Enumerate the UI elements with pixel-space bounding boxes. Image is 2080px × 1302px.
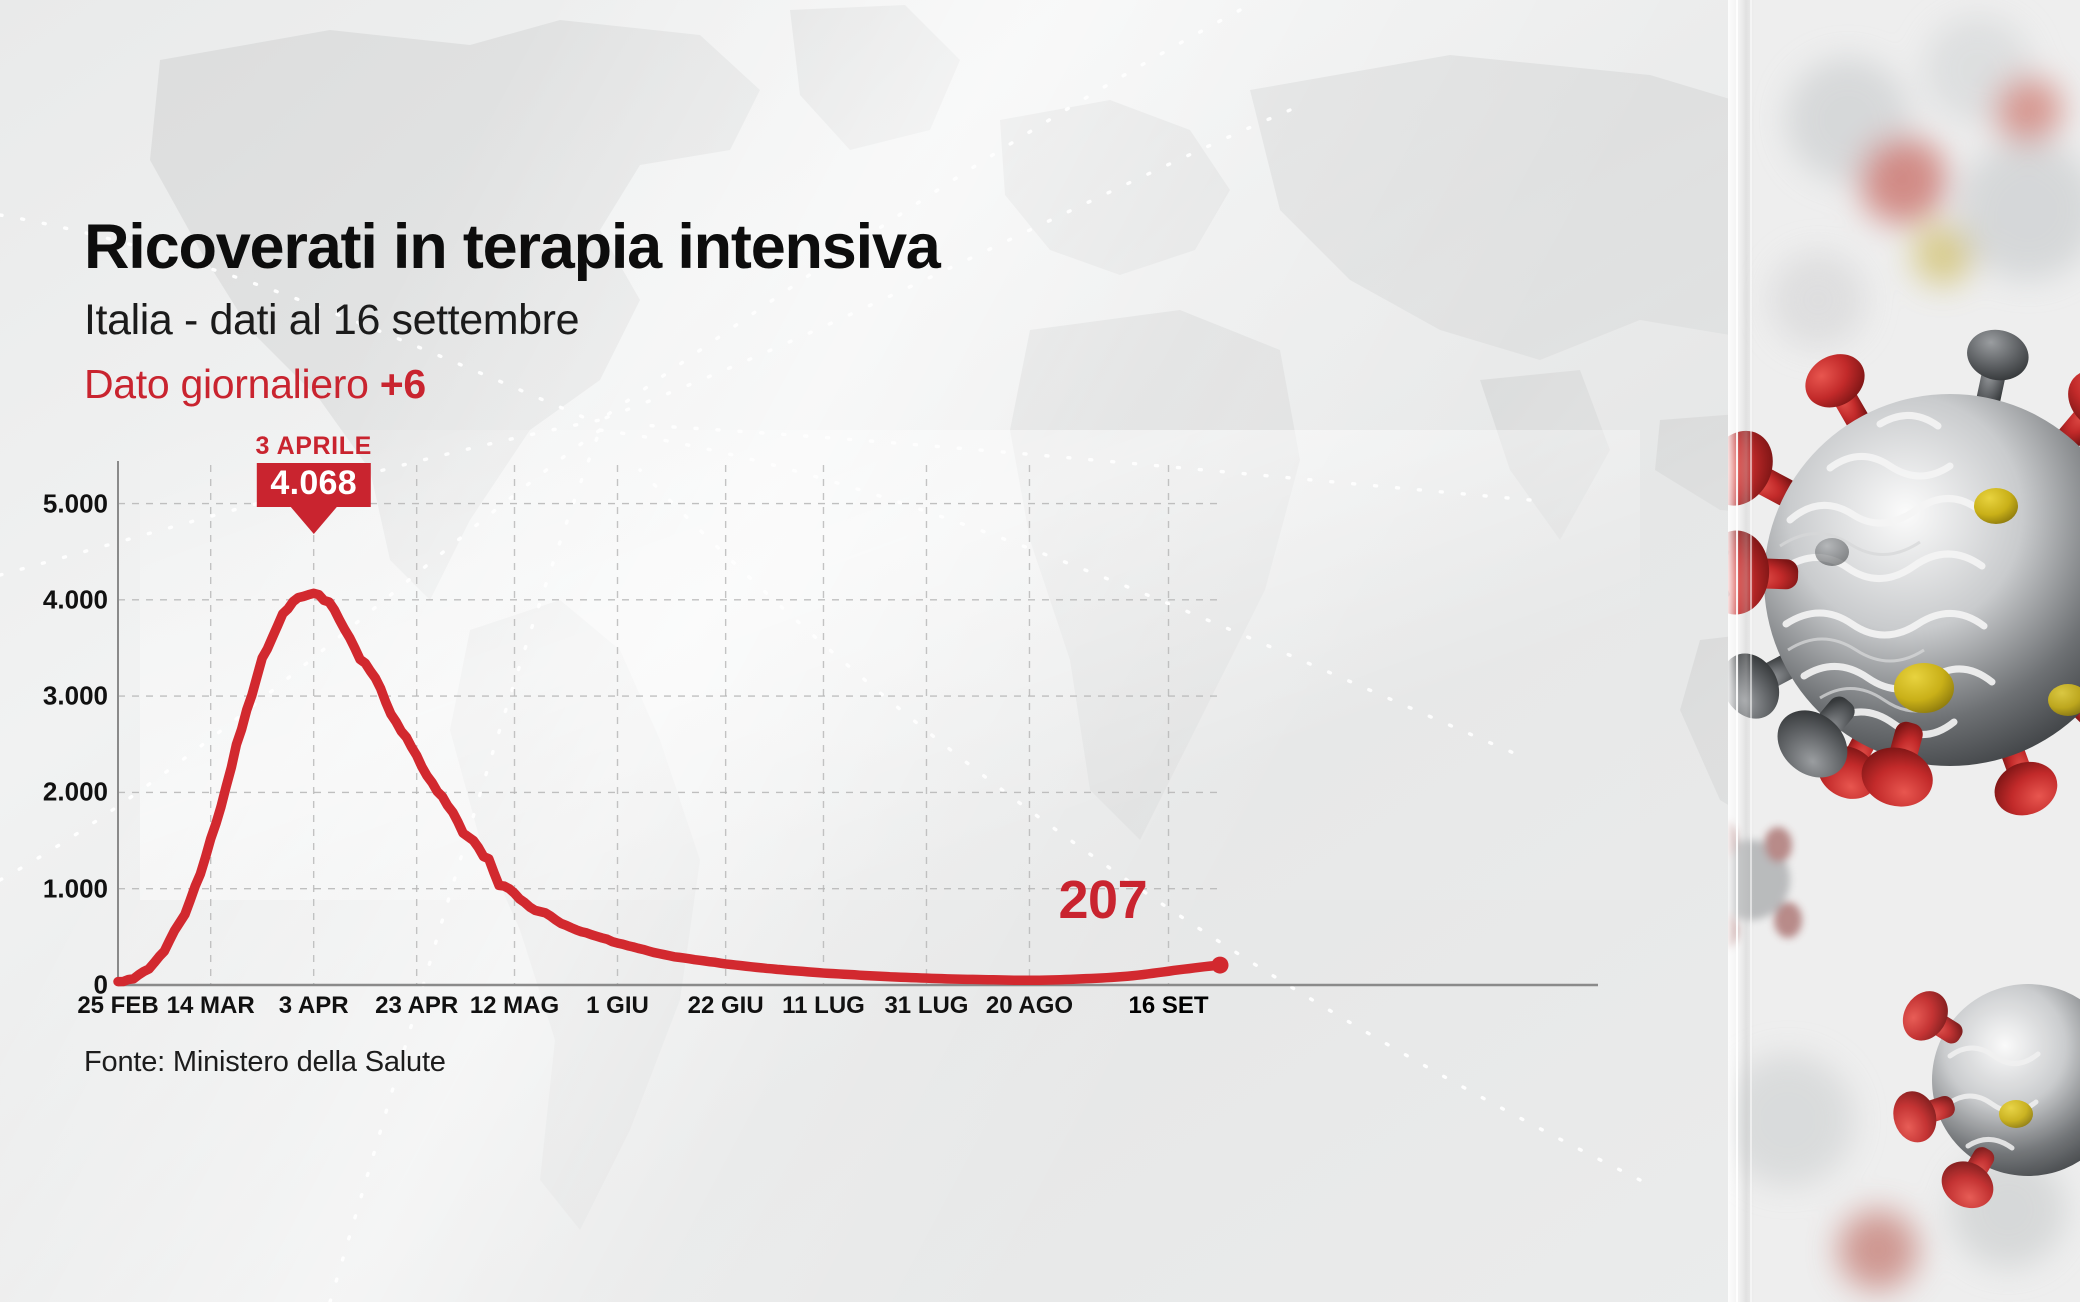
x-tick-label: 3 APR xyxy=(279,992,349,1020)
glass-highlight-line-1 xyxy=(1736,0,1738,1302)
daily-delta-line: Dato giornaliero +6 xyxy=(84,361,1384,408)
last-point-marker xyxy=(1212,957,1229,974)
coronavirus-render xyxy=(1728,0,2080,1302)
last-value-label: 207 xyxy=(1059,869,1148,931)
x-tick-label: 20 AGO xyxy=(986,992,1073,1020)
x-tick-label: 25 FEB xyxy=(77,992,158,1020)
page-subtitle: Italia - dati al 16 settembre xyxy=(84,296,1384,345)
peak-callout-date: 3 APRILE xyxy=(255,433,371,459)
x-tick-label: 11 LUG xyxy=(782,992,865,1020)
x-axis-labels: 25 FEB14 MAR3 APR23 APR12 MAG1 GIU22 GIU… xyxy=(0,992,1620,1036)
page-title: Ricoverati in terapia intensiva xyxy=(84,215,1384,281)
infographic-canvas: Ricoverati in terapia intensiva Italia -… xyxy=(0,0,2080,1302)
virus-illustration-panel xyxy=(1728,0,2080,1302)
x-tick-label: 16 SET xyxy=(1128,992,1208,1020)
headline-block: Ricoverati in terapia intensiva Italia -… xyxy=(84,215,1384,408)
x-tick-label: 1 GIU xyxy=(586,992,649,1020)
x-tick-label: 22 GIU xyxy=(688,992,764,1020)
peak-callout-value: 4.068 xyxy=(256,463,371,508)
source-note: Fonte: Ministero della Salute xyxy=(84,1046,446,1079)
daily-delta-label: Dato giornaliero xyxy=(84,361,380,407)
x-tick-label: 14 MAR xyxy=(167,992,255,1020)
peak-callout-arrow-icon xyxy=(291,507,337,534)
peak-callout: 3 APRILE 4.068 xyxy=(255,433,371,534)
x-tick-label: 31 LUG xyxy=(884,992,968,1020)
chart-series-line xyxy=(118,593,1220,981)
line-chart xyxy=(0,455,1620,995)
x-tick-label: 12 MAG xyxy=(470,992,559,1020)
daily-delta-value: +6 xyxy=(380,361,426,407)
x-tick-label: 23 APR xyxy=(375,992,458,1020)
chart-grid xyxy=(118,465,1220,985)
glass-highlight-line-2 xyxy=(1750,0,1752,1302)
